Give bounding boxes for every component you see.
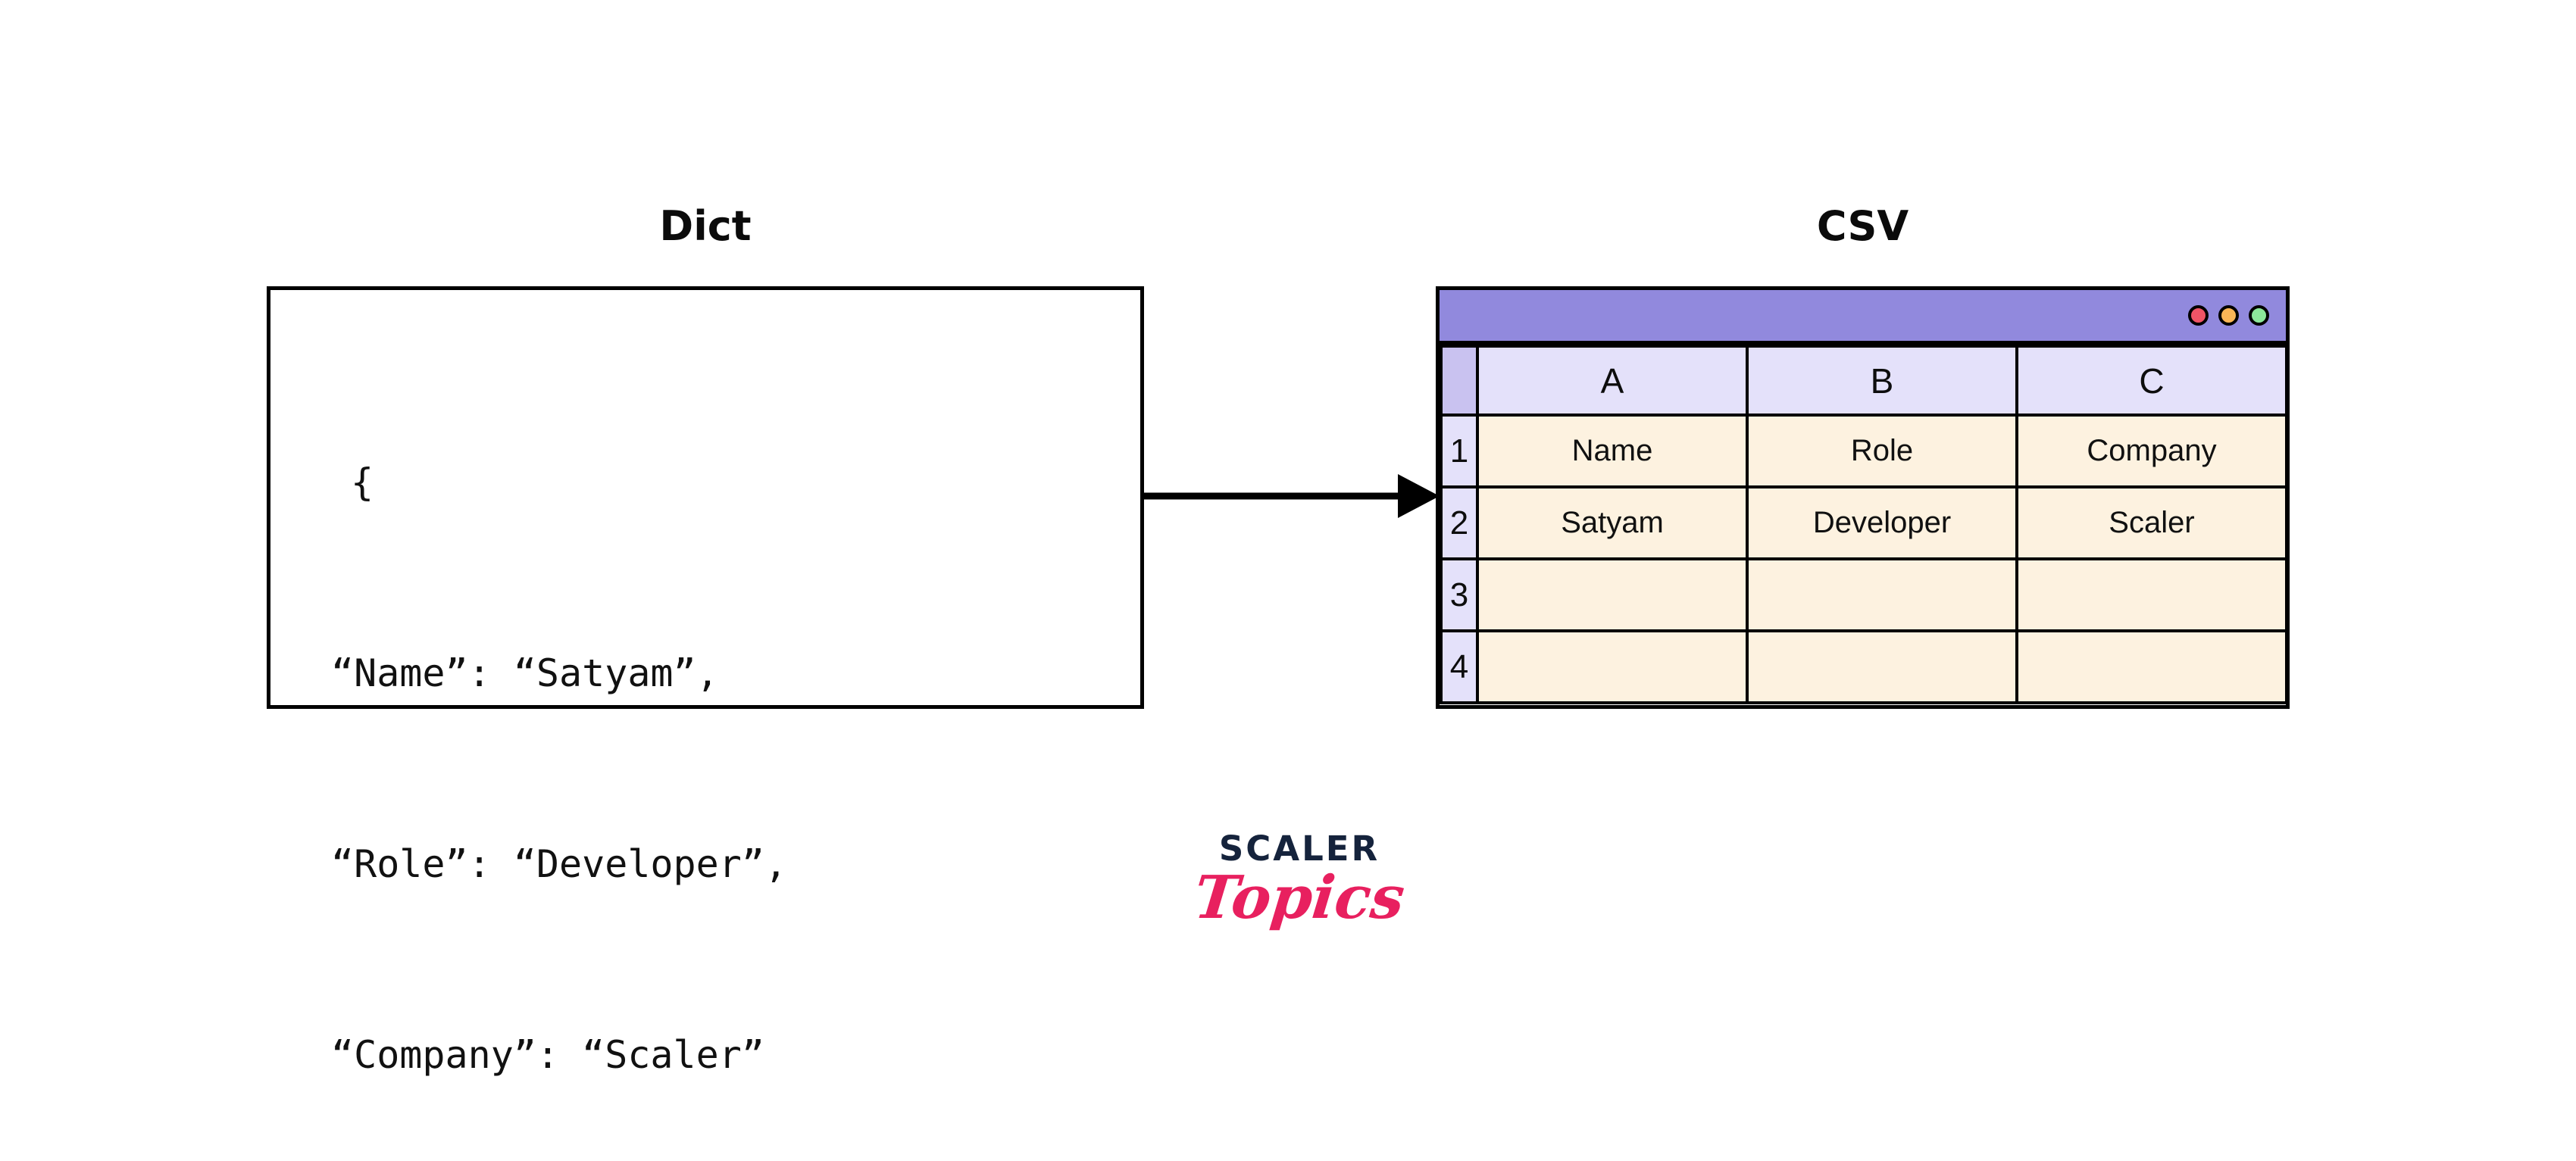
dict-code-line-name: “Name”: “Satyam”, bbox=[331, 641, 787, 705]
dict-code-line-company: “Company”: “Scaler” bbox=[331, 1023, 787, 1087]
cell-c3[interactable] bbox=[2017, 559, 2287, 631]
dict-code-box: { “Name”: “Satyam”, “Role”: “Developer”,… bbox=[267, 286, 1144, 709]
column-header-a[interactable]: A bbox=[1477, 346, 1747, 415]
cell-c1[interactable]: Company bbox=[2017, 415, 2287, 487]
csv-panel-title: CSV bbox=[1436, 206, 2290, 247]
dict-code-line-open-brace: { bbox=[331, 451, 787, 514]
close-dot-icon[interactable] bbox=[2188, 305, 2209, 326]
dict-code-line-role: “Role”: “Developer”, bbox=[331, 832, 787, 896]
table-row: 1 Name Role Company bbox=[1441, 415, 2287, 487]
spreadsheet-grid: A B C 1 Name Role Company 2 Satyam Devel… bbox=[1440, 345, 2288, 704]
cell-b1[interactable]: Role bbox=[1747, 415, 2017, 487]
dict-code-block: { “Name”: “Satyam”, “Role”: “Developer”,… bbox=[331, 323, 787, 1161]
logo-topics-text: Topics bbox=[1168, 867, 1432, 929]
scaler-topics-logo: SCALER Topics bbox=[1171, 832, 1428, 929]
cell-b3[interactable] bbox=[1747, 559, 2017, 631]
grid-corner-cell[interactable] bbox=[1441, 346, 1477, 415]
window-titlebar bbox=[1440, 290, 2286, 345]
maximize-dot-icon[interactable] bbox=[2249, 305, 2269, 326]
row-header-2[interactable]: 2 bbox=[1441, 487, 1477, 559]
column-header-row: A B C bbox=[1441, 346, 2287, 415]
row-header-4[interactable]: 4 bbox=[1441, 631, 1477, 703]
cell-a1[interactable]: Name bbox=[1477, 415, 1747, 487]
table-row: 4 bbox=[1441, 631, 2287, 703]
diagram-canvas: Dict { “Name”: “Satyam”, “Role”: “Develo… bbox=[0, 0, 2576, 1161]
minimize-dot-icon[interactable] bbox=[2218, 305, 2239, 326]
column-header-c[interactable]: C bbox=[2017, 346, 2287, 415]
column-header-b[interactable]: B bbox=[1747, 346, 2017, 415]
table-row: 2 Satyam Developer Scaler bbox=[1441, 487, 2287, 559]
cell-b2[interactable]: Developer bbox=[1747, 487, 2017, 559]
cell-a2[interactable]: Satyam bbox=[1477, 487, 1747, 559]
conversion-arrow-icon bbox=[1144, 463, 1440, 529]
cell-c2[interactable]: Scaler bbox=[2017, 487, 2287, 559]
row-header-1[interactable]: 1 bbox=[1441, 415, 1477, 487]
window-controls bbox=[2188, 290, 2269, 341]
row-header-3[interactable]: 3 bbox=[1441, 559, 1477, 631]
csv-spreadsheet-window: A B C 1 Name Role Company 2 Satyam Devel… bbox=[1436, 286, 2290, 709]
cell-c4[interactable] bbox=[2017, 631, 2287, 703]
table-row: 3 bbox=[1441, 559, 2287, 631]
dict-panel-title: Dict bbox=[267, 206, 1144, 247]
logo-scaler-text: SCALER bbox=[1171, 832, 1428, 866]
cell-a3[interactable] bbox=[1477, 559, 1747, 631]
cell-a4[interactable] bbox=[1477, 631, 1747, 703]
cell-b4[interactable] bbox=[1747, 631, 2017, 703]
